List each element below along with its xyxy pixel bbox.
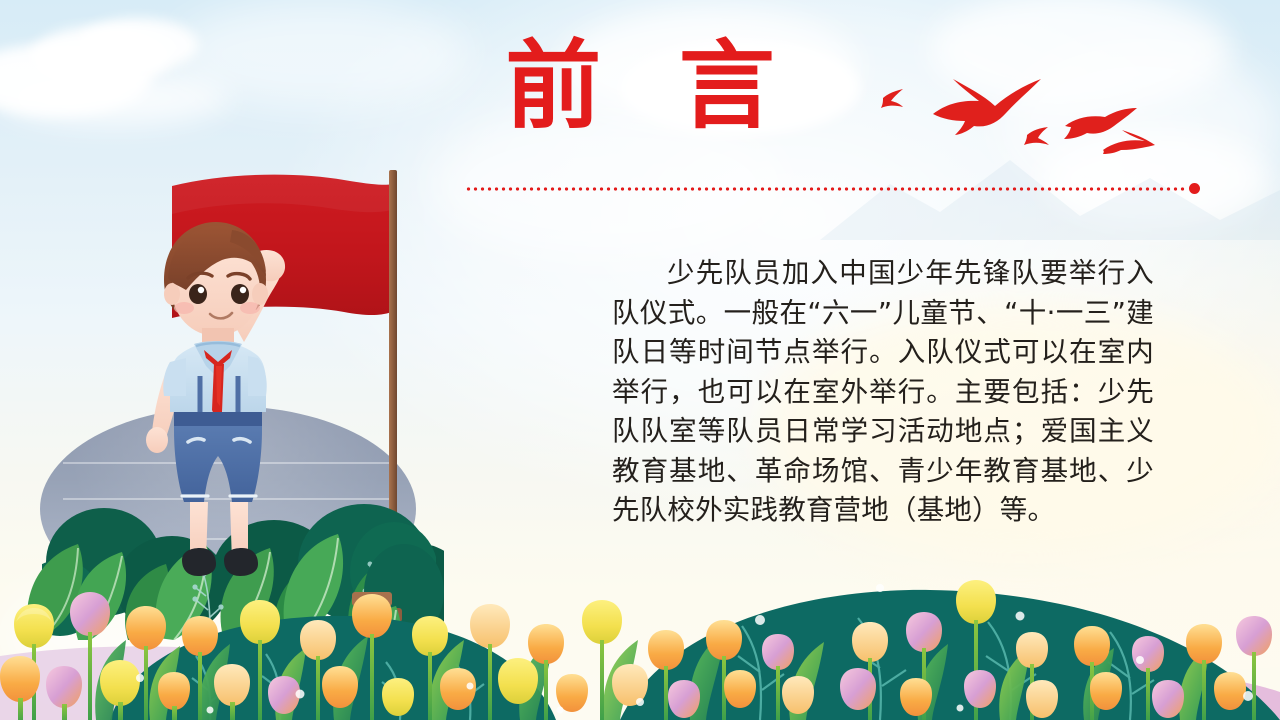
dotted-line bbox=[465, 187, 1187, 191]
slide-root: 前 言 少先队员加入中国少年先锋队要举行入队仪式。一般在“六一”儿童节、“十·一… bbox=[0, 0, 1280, 720]
flying-birds-icon bbox=[855, 72, 1155, 162]
body-paragraph: 少先队员加入中国少年先锋队要举行入队仪式。一般在“六一”儿童节、“十·一三”建队… bbox=[612, 254, 1154, 531]
illustration-pioneer-boy bbox=[18, 138, 430, 620]
divider-rule bbox=[465, 183, 1200, 195]
boy-character bbox=[138, 216, 298, 598]
tulip-flower-border bbox=[0, 560, 1280, 720]
rule-end-dot-icon bbox=[1189, 183, 1200, 194]
